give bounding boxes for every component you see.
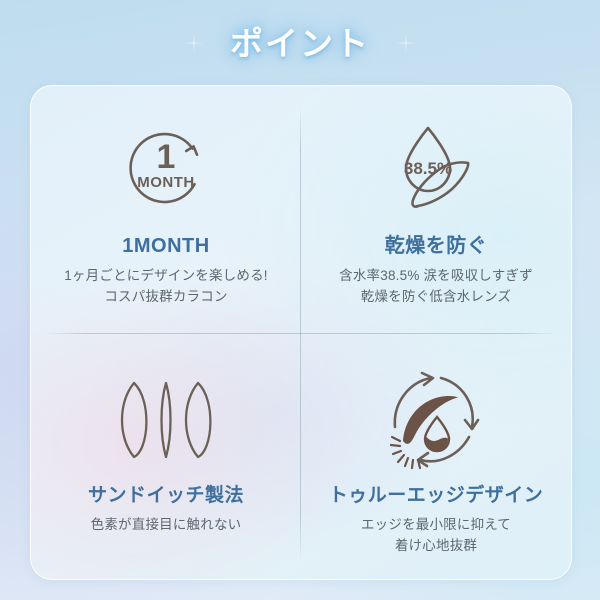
- icon-number: 1: [157, 138, 176, 176]
- icon-unit: MONTH: [137, 174, 195, 191]
- three-lens-layers-icon: [108, 361, 224, 479]
- header: ポイント: [0, 0, 600, 86]
- sparkle-icon: [396, 33, 416, 53]
- feature-description: 含水率38.5% 涙を吸収しすぎず 乾燥を防ぐ低含水レンズ: [339, 266, 533, 308]
- sparkle-icon: [184, 33, 204, 53]
- features-card: 1 MONTH 1MONTH 1ヶ月ごとにデザインを楽しめる! コスパ抜群カラコ…: [30, 85, 572, 580]
- feature-cell-true-edge: トゥルーエッジデザイン エッジを最小限に抑えて 着け心地抜群: [301, 333, 571, 580]
- feature-description-line: 含水率38.5% 涙を吸収しすぎず: [339, 266, 533, 287]
- feature-description: 1ヶ月ごとにデザインを楽しめる! コスパ抜群カラコン: [64, 266, 267, 308]
- eye-droplet-cycle-icon: [377, 361, 495, 479]
- feature-description-line: コスパ抜群カラコン: [64, 287, 267, 308]
- feature-title: トゥルーエッジデザイン: [329, 485, 544, 508]
- feature-description-line: 色素が直接目に触れない: [91, 515, 242, 536]
- feature-description: エッジを最小限に抑えて 着け心地抜群: [361, 515, 511, 557]
- feature-description-line: エッジを最小限に抑えて: [361, 515, 511, 536]
- feature-description-line: 乾燥を防ぐ低含水レンズ: [339, 287, 533, 308]
- feature-title: 1MONTH: [122, 234, 209, 258]
- feature-title: 乾燥を防ぐ: [385, 234, 488, 258]
- feature-cell-sandwich: サンドイッチ製法 色素が直接目に触れない: [31, 333, 301, 580]
- promo-graphic: ポイント 1 MONTH 1MONTH 1ヶ月ごとにデザインを楽しめる!: [0, 0, 600, 600]
- feature-cell-one-month: 1 MONTH 1MONTH 1ヶ月ごとにデザインを楽しめる! コスパ抜群カラコ…: [31, 86, 301, 333]
- circular-arrow-1month-icon: 1 MONTH: [114, 108, 218, 228]
- water-drop-lens-icon: 38.5%: [380, 108, 492, 228]
- page-title: ポイント: [204, 27, 396, 60]
- icon-value: 38.5%: [404, 159, 452, 178]
- feature-description-line: 着け心地抜群: [361, 536, 511, 557]
- feature-title: サンドイッチ製法: [88, 485, 244, 508]
- features-grid: 1 MONTH 1MONTH 1ヶ月ごとにデザインを楽しめる! コスパ抜群カラコ…: [31, 86, 571, 579]
- feature-cell-prevent-dryness: 38.5% 乾燥を防ぐ 含水率38.5% 涙を吸収しすぎず 乾燥を防ぐ低含水レン…: [301, 86, 571, 333]
- feature-description: 色素が直接目に触れない: [91, 515, 242, 536]
- feature-description-line: 1ヶ月ごとにデザインを楽しめる!: [64, 266, 267, 287]
